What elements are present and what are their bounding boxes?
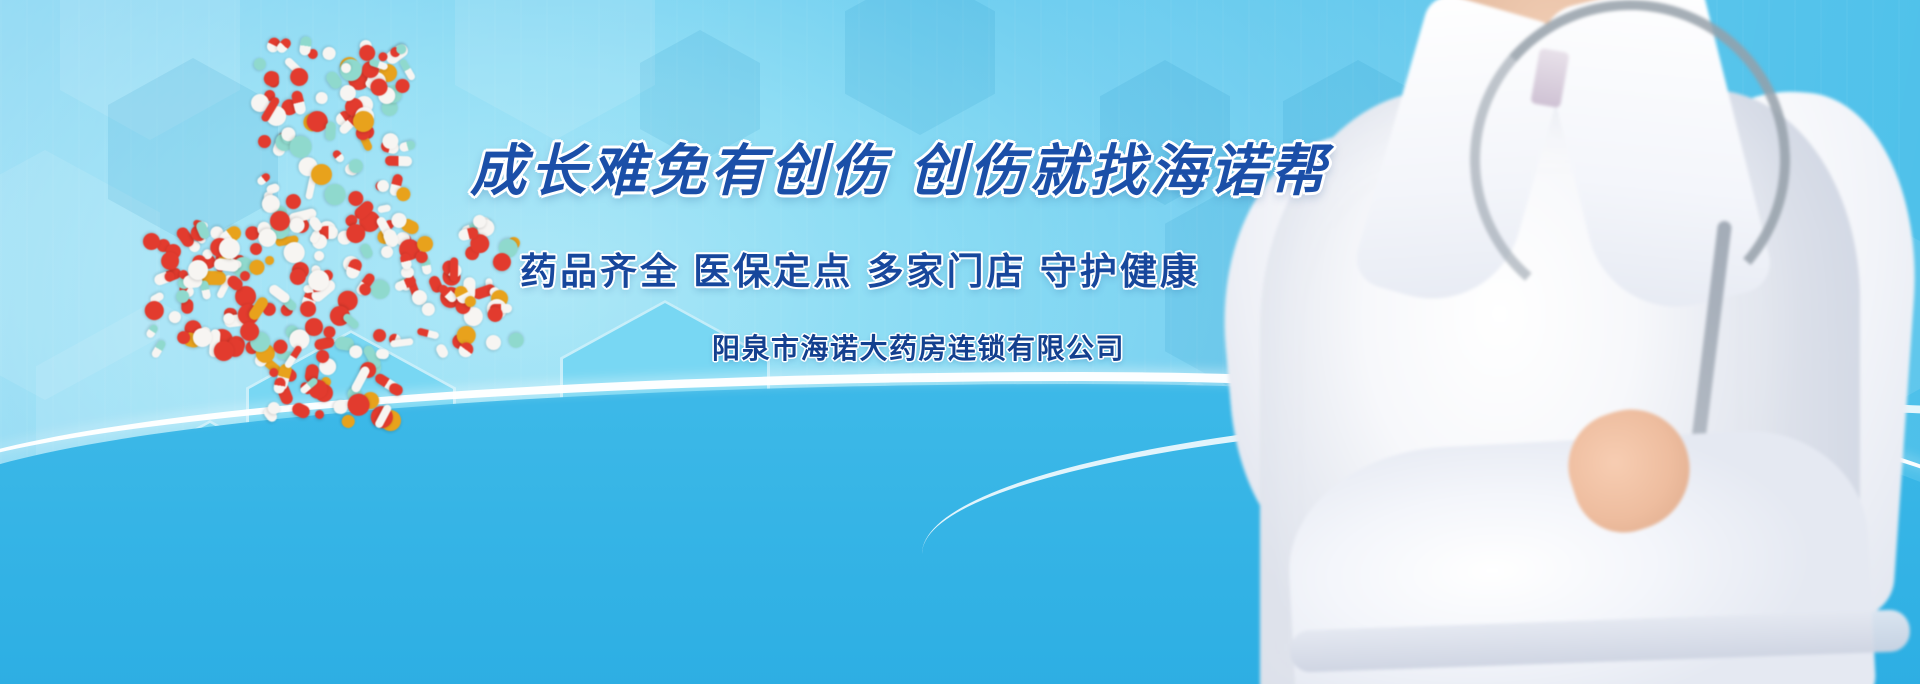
pill <box>385 155 412 166</box>
pill <box>378 204 392 214</box>
pill <box>434 343 450 360</box>
pill <box>256 133 273 150</box>
pill <box>416 328 439 340</box>
pill <box>290 400 312 420</box>
pill <box>398 58 416 81</box>
pill <box>316 92 328 104</box>
pill <box>449 257 458 281</box>
pill <box>358 242 374 260</box>
pill <box>333 399 348 414</box>
pill <box>340 85 356 101</box>
pill <box>323 181 349 207</box>
pill <box>483 333 504 354</box>
pill <box>420 301 437 318</box>
pill <box>332 149 346 164</box>
pill <box>380 245 394 259</box>
pill <box>321 45 337 61</box>
pill <box>265 182 281 195</box>
pill <box>351 366 372 394</box>
pharmacy-hero-banner: 成长难免有创伤 创伤就找海诺帮 药品齐全 医保定点 多家门店 守护健康 阳泉市海… <box>0 0 1920 684</box>
pill <box>263 255 276 268</box>
subheadline-features: 药品齐全 医保定点 多家门店 守护健康 <box>520 252 1280 293</box>
pill-cross-graphic <box>148 42 520 424</box>
pill <box>145 323 160 339</box>
hexagon-icon <box>845 0 995 135</box>
pill <box>151 339 168 360</box>
headline-slogan: 成长难免有创伤 创伤就找海诺帮 <box>470 142 1290 201</box>
pill <box>399 140 417 153</box>
pill <box>325 121 336 140</box>
pill <box>342 312 361 330</box>
pill <box>376 348 390 360</box>
pill <box>349 345 364 360</box>
pill <box>388 382 406 398</box>
pill <box>313 249 327 263</box>
pill <box>315 409 326 420</box>
pill <box>313 336 335 352</box>
pill <box>167 309 183 325</box>
pill <box>371 327 387 343</box>
pill <box>252 55 269 72</box>
company-name: 阳泉市海诺大药房连锁有限公司 <box>712 334 1332 365</box>
